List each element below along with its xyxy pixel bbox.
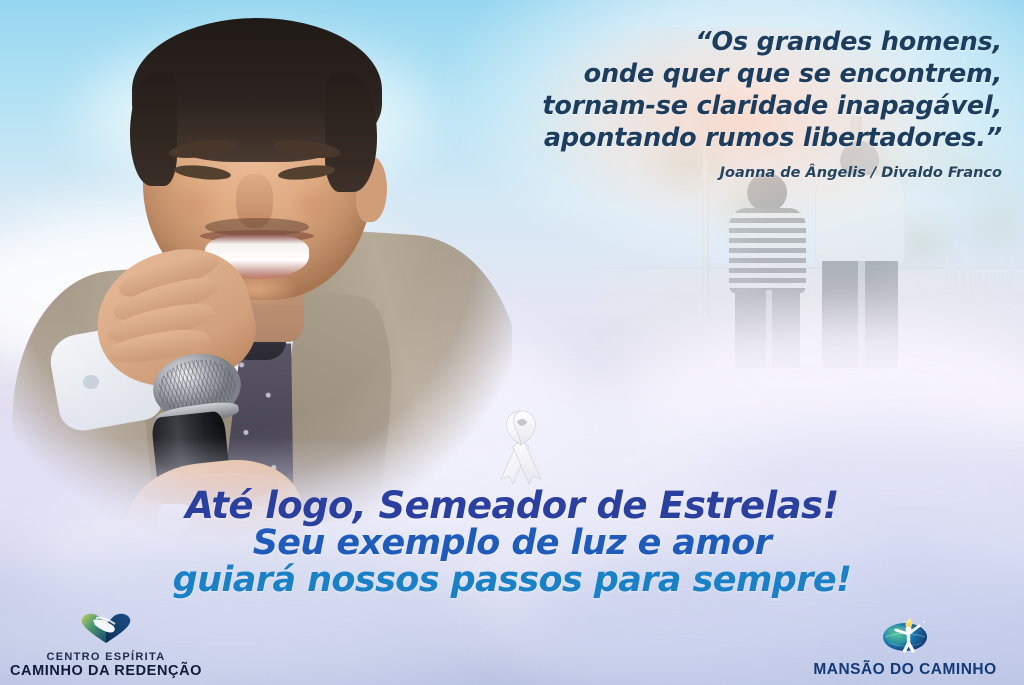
logo-mansao-do-caminho: MANSÃO DO CAMINHO (800, 614, 1010, 679)
memorial-poster: “Os grandes homens, onde quer que se enc… (0, 0, 1024, 685)
headline-line-3: guiará nossos passos para sempre! (0, 562, 1024, 599)
adult-white-shirt (815, 175, 905, 266)
heart-hands-icon (8, 612, 204, 648)
logo-centro-espirita: CENTRO ESPÍRITA CAMINHO DA REDENÇÃO (8, 612, 204, 679)
child-striped-shirt (729, 208, 806, 294)
fence (945, 255, 1017, 299)
quote-author: Joanna de Ângelis / Divaldo Franco (442, 165, 1002, 181)
globe-figure-flame-icon (800, 614, 1010, 658)
headline-line-2: Seu exemplo de luz e amor (0, 525, 1024, 562)
quote-line-1: “Os grandes homens, (442, 26, 1002, 58)
headline-block: Até logo, Semeador de Estrelas! Seu exem… (0, 487, 1024, 599)
quote-line-4: apontando rumos libertadores.” (442, 122, 1002, 154)
quote-block: “Os grandes homens, onde quer que se enc… (442, 26, 1002, 181)
logo-right-line-1: MANSÃO DO CAMINHO (800, 661, 1010, 679)
headline-line-1: Até logo, Semeador de Estrelas! (0, 487, 1024, 525)
logo-left-line-1: CENTRO ESPÍRITA (8, 651, 204, 663)
logo-left-line-2: CAMINHO DA REDENÇÃO (8, 663, 204, 679)
cuff-button (83, 375, 99, 389)
quote-line-3: tornam-se claridade inapagável, (442, 90, 1002, 122)
quote-line-2: onde quer que se encontrem, (442, 58, 1002, 90)
white-ribbon (479, 405, 563, 489)
hair-side-left (130, 72, 177, 186)
